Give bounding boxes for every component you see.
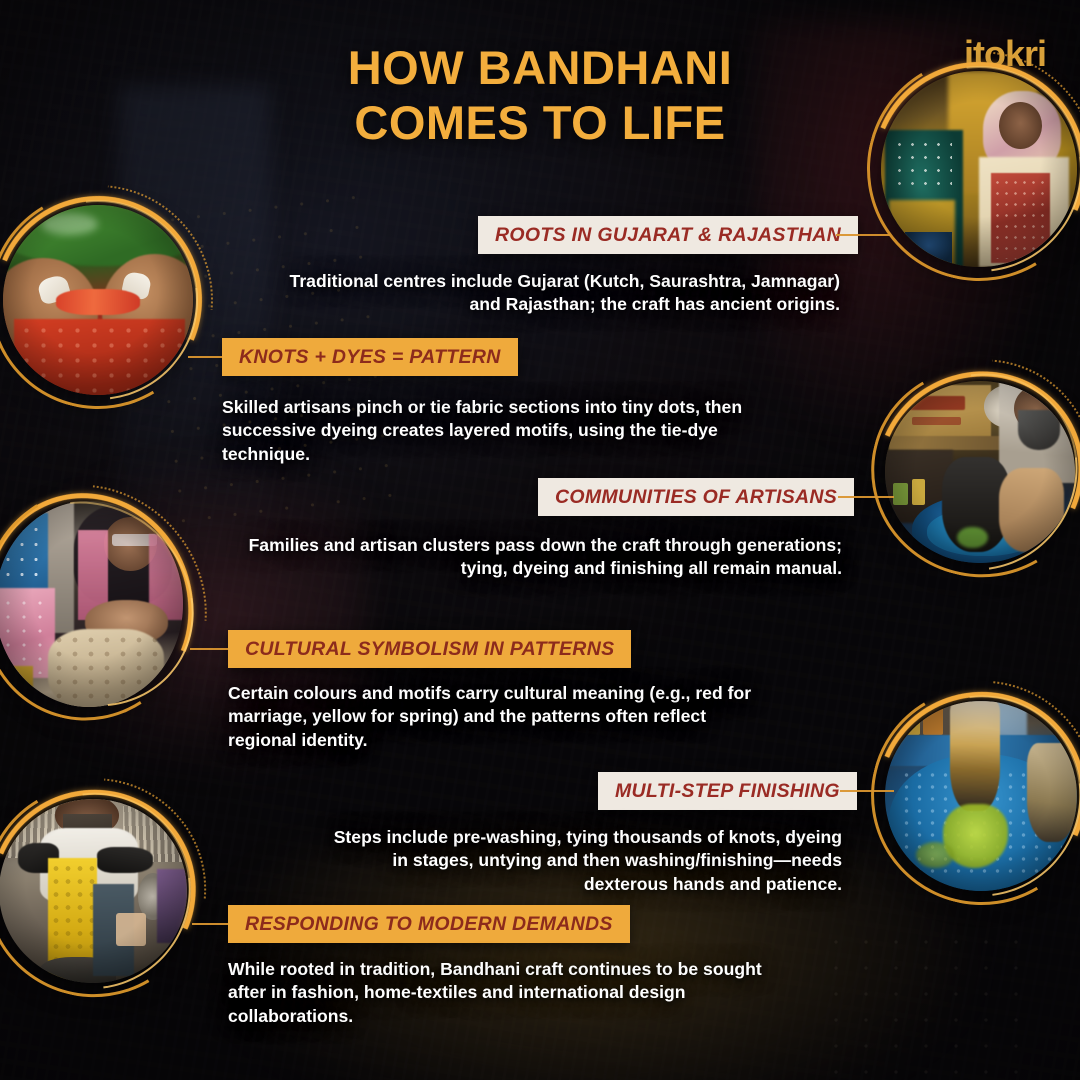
section-body-modern: While rooted in tradition, Bandhani craf…: [228, 958, 788, 1028]
connector-line-modern: [192, 923, 228, 925]
section-body-knots-dyes: Skilled artisans pinch or tie fabric sec…: [222, 396, 752, 466]
section-heading-communities: COMMUNITIES OF ARTISANS: [538, 478, 854, 516]
section-body-symbolism: Certain colours and motifs carry cultura…: [228, 682, 768, 752]
section-heading-finishing: MULTI-STEP FINISHING: [598, 772, 857, 810]
section-heading-roots: ROOTS IN GUJARAT & RAJASTHAN: [478, 216, 858, 254]
photo-hands-red-fabric-image: [3, 205, 193, 395]
connector-line-communities: [838, 496, 894, 498]
section-heading-modern: RESPONDING TO MODERN DEMANDS: [228, 905, 630, 943]
section-body-roots: Traditional centres include Gujarat (Kut…: [272, 270, 840, 317]
photo-dyer-blue-tub: [876, 372, 1080, 572]
section-heading-modern-text: RESPONDING TO MODERN DEMANDS: [245, 913, 613, 936]
section-body-finishing: Steps include pre-washing, tying thousan…: [322, 826, 842, 896]
photo-hands-red-fabric: [0, 196, 202, 404]
photo-indigo-vat: [876, 692, 1080, 900]
section-heading-symbolism-text: CULTURAL SYMBOLISM IN PATTERNS: [245, 638, 614, 661]
photo-women-tying-image: [881, 71, 1077, 267]
connector-line-knots-dyes: [188, 356, 222, 358]
connector-line-finishing: [840, 790, 894, 792]
connector-line-symbolism: [190, 648, 228, 650]
photo-indigo-vat-image: [885, 701, 1077, 891]
photo-dyer-yellow-cloth: [0, 790, 196, 992]
photo-women-tying: [872, 62, 1080, 276]
section-body-communities: Families and artisan clusters pass down …: [248, 534, 842, 581]
section-heading-communities-text: COMMUNITIES OF ARTISANS: [555, 486, 837, 509]
photo-woman-knotting: [0, 492, 192, 716]
section-heading-knots-dyes: KNOTS + DYES = PATTERN: [222, 338, 518, 376]
section-heading-knots-dyes-text: KNOTS + DYES = PATTERN: [239, 346, 501, 369]
section-heading-finishing-text: MULTI-STEP FINISHING: [615, 780, 840, 803]
section-heading-roots-text: ROOTS IN GUJARAT & RAJASTHAN: [495, 224, 841, 247]
photo-dyer-yellow-cloth-image: [0, 799, 187, 983]
photo-woman-knotting-image: [0, 501, 183, 707]
section-heading-symbolism: CULTURAL SYMBOLISM IN PATTERNS: [228, 630, 631, 668]
connector-line-roots: [836, 234, 890, 236]
photo-dyer-blue-tub-image: [885, 381, 1075, 563]
